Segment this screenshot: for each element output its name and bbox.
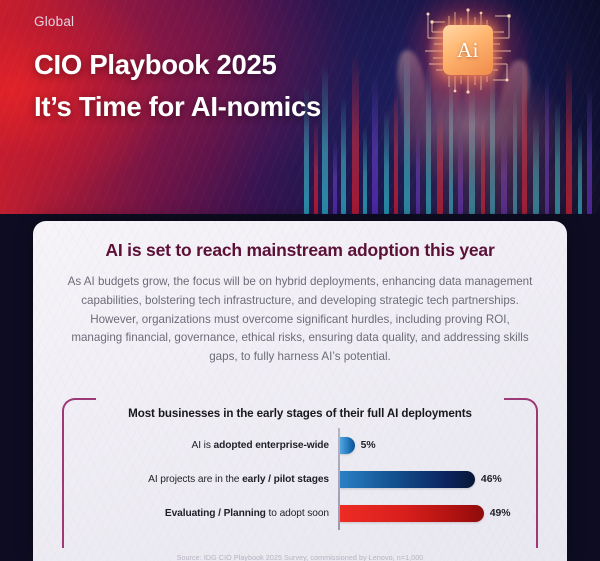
bar-label-1-bold: early / pilot stages xyxy=(242,474,329,485)
hero-kicker: Global xyxy=(34,14,321,29)
hero-text-block: Global CIO Playbook 2025 It’s Time for A… xyxy=(34,14,321,128)
bar-value-0: 5% xyxy=(361,440,376,451)
bar-2[interactable] xyxy=(340,505,484,522)
chart-title: Most businesses in the early stages of t… xyxy=(62,398,538,420)
bar-value-1: 46% xyxy=(481,474,502,485)
chart-row: Evaluating / Planning to adopt soon 49% xyxy=(62,499,538,528)
bar-label-0-lead: AI is xyxy=(192,440,214,451)
bar-value-2: 49% xyxy=(490,508,511,519)
bar-label-0-bold: adopted enterprise-wide xyxy=(214,440,329,451)
bar-label-2-tail: to adopt soon xyxy=(266,508,329,519)
bar-0[interactable] xyxy=(340,437,355,454)
chip-label: Ai xyxy=(457,38,479,63)
bar-label-1: AI projects are in the early / pilot sta… xyxy=(62,474,338,485)
bar-label-2: Evaluating / Planning to adopt soon xyxy=(62,508,338,519)
bar-label-1-lead: AI projects are in the xyxy=(148,474,242,485)
chart-panel: Most businesses in the early stages of t… xyxy=(62,398,538,561)
bar-track-0: 5% xyxy=(338,437,538,454)
hero-banner: Ai Global CIO Playbook 2025 It’s Time fo… xyxy=(0,0,600,214)
hero-title-line-1: CIO Playbook 2025 xyxy=(34,44,321,86)
chart-axis-line xyxy=(338,428,340,530)
bar-track-1: 46% xyxy=(338,471,538,488)
bar-track-2: 49% xyxy=(338,505,538,522)
chart-row: AI is adopted enterprise-wide 5% xyxy=(62,431,538,460)
chart-rows: AI is adopted enterprise-wide 5% AI proj… xyxy=(62,431,538,528)
chart-source-note: Source: IDG CIO Playbook 2025 Survey, co… xyxy=(62,554,538,561)
bar-label-0: AI is adopted enterprise-wide xyxy=(62,440,338,451)
content-card: AI is set to reach mainstream adoption t… xyxy=(33,221,567,561)
chart-row: AI projects are in the early / pilot sta… xyxy=(62,465,538,494)
ai-chip-graphic: Ai xyxy=(425,8,511,94)
card-heading: AI is set to reach mainstream adoption t… xyxy=(33,240,567,261)
chip-body: Ai xyxy=(443,25,493,75)
bar-label-2-bold: Evaluating / Planning xyxy=(165,508,266,519)
hero-title-line-2: It’s Time for AI-nomics xyxy=(34,86,321,128)
bar-1[interactable] xyxy=(340,471,475,488)
card-paragraph: As AI budgets grow, the focus will be on… xyxy=(64,273,536,367)
